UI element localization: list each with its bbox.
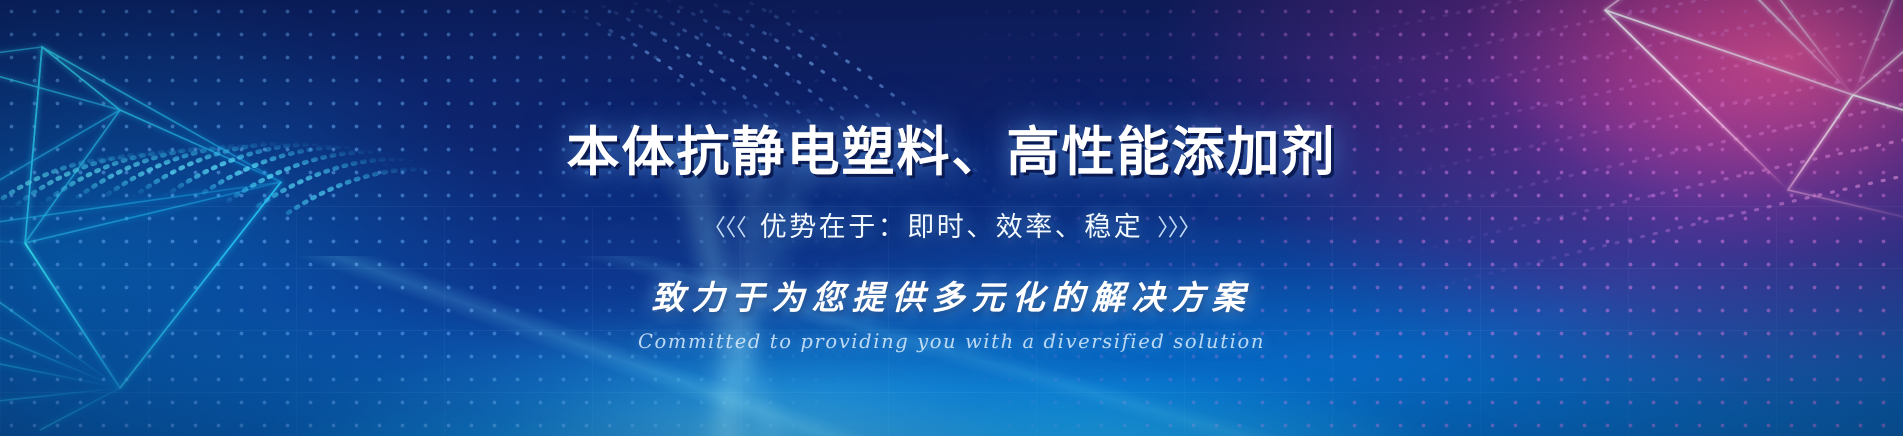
chevron-left-icon: 〈〈〈	[703, 208, 746, 242]
banner-slogan-en: Committed to providing you with a divers…	[638, 330, 1265, 353]
chevron-right-icon: 〉〉〉	[1157, 208, 1200, 242]
banner-content: 本体抗静电塑料、高性能添加剂 〈〈〈 优势在于：即时、效率、稳定 〉〉〉 致力于…	[0, 0, 1903, 436]
banner-slogan-cn: 致力于为您提供多元化的解决方案	[652, 271, 1252, 319]
banner-title: 本体抗静电塑料、高性能添加剂	[567, 126, 1337, 179]
banner-subtitle-text: 优势在于：即时、效率、稳定	[760, 205, 1144, 244]
banner-subtitle: 〈〈〈 优势在于：即时、效率、稳定 〉〉〉	[703, 205, 1201, 244]
hero-banner: 本体抗静电塑料、高性能添加剂 〈〈〈 优势在于：即时、效率、稳定 〉〉〉 致力于…	[0, 0, 1903, 436]
